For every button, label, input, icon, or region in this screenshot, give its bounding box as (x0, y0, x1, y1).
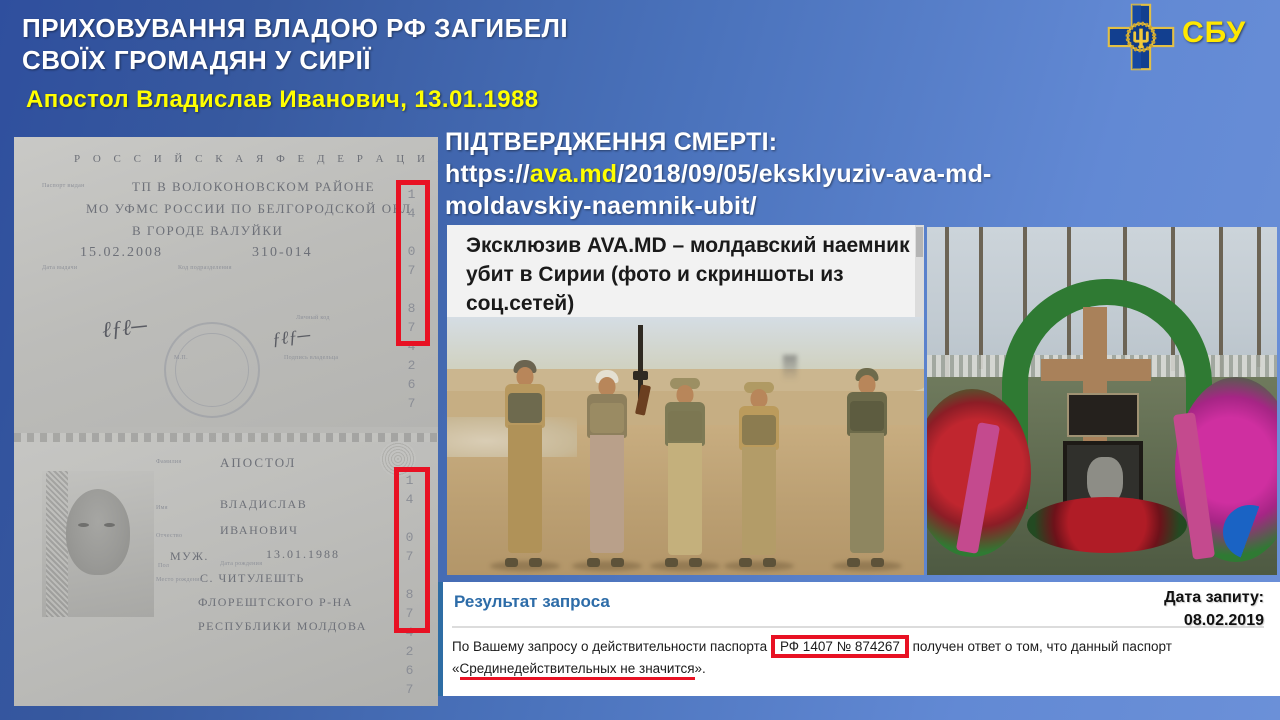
passport-guilloche-pattern (46, 471, 68, 617)
url-prefix: https:// (445, 160, 530, 188)
soldiers-photo (447, 317, 924, 575)
soldier-legs (850, 433, 884, 553)
grave-photo (927, 227, 1277, 575)
passport-birth-place-2: ФЛОРЕШТСКОГО Р-НА (198, 595, 353, 610)
photo-smoke-plume (783, 355, 797, 381)
passport-photo-face (66, 489, 130, 575)
underlined-text-2: недействительных не значится (499, 661, 694, 680)
underlined-text-1: Среди (460, 661, 500, 680)
soldier-2 (567, 377, 647, 567)
soldier-4 (719, 389, 799, 567)
passport-signature-official: ℓƒℓ─ (101, 313, 148, 344)
url-domain-highlight: ava.md (530, 160, 617, 188)
photo-eye-left (78, 523, 89, 527)
passport-issuer-line-1: ТП В ВОЛОКОНОВСКОМ РАЙОНЕ (132, 179, 375, 195)
passport-patronymic: ИВАНОВИЧ (220, 523, 298, 538)
passport-label-issue-date: Дата выдачи (42, 265, 77, 271)
soldier-vest (668, 411, 702, 441)
passport-sex: МУЖ. (170, 549, 209, 564)
soldier-5 (827, 375, 907, 567)
soldier-boot-left (587, 558, 600, 567)
news-headline-box: Эксклюзив AVA.MD – молдавский наемник уб… (447, 225, 924, 317)
photo-eye-right (104, 523, 115, 527)
confirmation-url-line-1: https://ava.md/2018/09/05/eksklyuziv-ava… (445, 158, 1145, 190)
result-body-text: По Вашему запросу о действительности пас… (452, 636, 1266, 680)
result-text-part-3: ». (695, 661, 706, 676)
soldier-shadow (572, 561, 642, 571)
grave-decorative-fan (1223, 505, 1277, 559)
passport-label-dept-code: Код подразделения (178, 265, 232, 271)
query-date-label: Дата запиту: (1004, 586, 1264, 609)
passport-surname: АПОСТОЛ (220, 455, 296, 471)
soldier-boot-right (763, 558, 776, 567)
passport-label-sex: Пол (158, 563, 169, 569)
news-scrollbar[interactable] (915, 225, 924, 317)
passport-issue-date: 15.02.2008 (80, 245, 163, 261)
grave-tree (979, 227, 983, 369)
soldier-legs (590, 435, 624, 553)
news-scrollbar-thumb[interactable] (916, 227, 923, 257)
soldier-legs (508, 425, 542, 553)
soldier-vest (508, 393, 542, 423)
passport-label-patronymic: Отчество (156, 533, 182, 539)
passport-label-birth-date: Дата рождения (220, 561, 262, 567)
soldier-boot-left (847, 558, 860, 567)
passport-label-personal-code: Личный код (296, 315, 330, 321)
sbu-cross-trident-icon (1106, 2, 1176, 72)
soldier-boot-left (739, 558, 752, 567)
soldier-shadow (490, 561, 560, 571)
passport-department-code: 310-014 (252, 245, 313, 261)
soldier-shadow (650, 561, 720, 571)
passport-issuer-line-3: В ГОРОДЕ ВАЛУЙКИ (132, 223, 283, 239)
passport-country-header: Р О С С И Й С К А Я Ф Е Д Е Р А Ц И Я (74, 153, 438, 165)
soldier-shadow (832, 561, 902, 571)
news-headline-text: Эксклюзив AVA.MD – молдавский наемник уб… (466, 231, 911, 318)
soldier-1 (485, 367, 565, 567)
slide-header: ПРИХОВУВАННЯ ВЛАДОЮ РФ ЗАГИБЕЛІ СВОЇХ ГР… (0, 0, 1280, 128)
grave-flower-arrangement (1027, 497, 1187, 553)
passport-page-issuer: Р О С С И Й С К А Я Ф Е Д Е Р А Ц И Я Па… (14, 137, 438, 427)
result-panel-title: Результат запроса (454, 592, 610, 612)
grave-tree (1257, 227, 1261, 367)
result-text-part-1: По Вашему запросу о действительности пас… (452, 639, 771, 654)
passport-label-issued-by: Паспорт выдан (42, 183, 85, 189)
grave-cross-horizontal (1041, 359, 1151, 381)
passport-photo (42, 471, 154, 617)
passport-label-signature: Подпись владельца (284, 355, 338, 361)
death-confirmation-block: ПІДТВЕРДЖЕННЯ СМЕРТІ: https://ava.md/201… (445, 126, 1145, 222)
query-result-panel: Результат запроса Дата запиту: 08.02.201… (438, 582, 1280, 696)
highlight-box-serial-top (396, 180, 430, 346)
passport-official-stamp (164, 322, 260, 418)
passport-label-birth-place: Место рождения (156, 577, 203, 583)
panel-accent-bar (438, 582, 443, 696)
grave-name-plate (1067, 393, 1139, 437)
page-title-line-1: ПРИХОВУВАННЯ ВЛАДОЮ РФ ЗАГИБЕЛІ (22, 12, 1072, 44)
sbu-logo: СБУ (1096, 2, 1276, 72)
sbu-logo-text: СБУ (1182, 16, 1246, 50)
passport-birth-date: 13.01.1988 (266, 547, 340, 562)
soldier-boot-left (505, 558, 518, 567)
soldier-vest (742, 415, 776, 445)
soldier-3 (645, 385, 725, 567)
page-title: ПРИХОВУВАННЯ ВЛАДОЮ РФ ЗАГИБЕЛІ СВОЇХ ГР… (22, 12, 1072, 76)
soldier-boot-right (689, 558, 702, 567)
soldier-shadow (724, 561, 794, 571)
confirmation-label: ПІДТВЕРДЖЕННЯ СМЕРТІ: (445, 126, 1145, 158)
passport-signature-holder: ƒℓƒ─ (271, 325, 311, 350)
passport-label-name: Имя (156, 505, 168, 511)
soldier-legs (742, 447, 776, 555)
passport-scan-image: Р О С С И Й С К А Я Ф Е Д Е Р А Ц И Я Па… (14, 137, 438, 706)
url-path-part-1: /2018/09/05/eksklyuziv-ava-md- (617, 160, 991, 188)
soldier-legs (668, 443, 702, 555)
soldier-vest (590, 403, 624, 433)
confirmation-url-line-2: moldavskiy-naemnik-ubit/ (445, 190, 1145, 222)
soldier-boot-left (665, 558, 678, 567)
passport-label-surname: Фамилия (156, 459, 181, 465)
soldier-boot-right (529, 558, 542, 567)
passport-birth-place-3: РЕСПУБЛИКИ МОЛДОВА (198, 619, 367, 634)
query-date-block: Дата запиту: 08.02.2019 (1004, 586, 1264, 632)
passport-issuer-line-2: МО УФМС РОССИИ ПО БЕЛГОРОДСКОЙ ОБЛ. (86, 201, 416, 217)
soldier-boot-right (611, 558, 624, 567)
soldier-boot-right (871, 558, 884, 567)
passport-perforation-strip (14, 433, 438, 442)
page-title-line-2: СВОЇХ ГРОМАДЯН У СИРІЇ (22, 44, 1072, 76)
highlight-box-serial-bottom (394, 467, 430, 633)
query-date-value: 08.02.2019 (1004, 609, 1264, 632)
passport-page-personal: АПОСТОЛ Фамилия ВЛАДИСЛАВ Имя ИВАНОВИЧ О… (14, 433, 438, 706)
highlighted-passport-number: РФ 1407 № 874267 (771, 635, 909, 658)
passport-birth-place-1: С. ЧИТУЛЕШТЬ (200, 571, 305, 586)
soldier-vest (850, 401, 884, 431)
subject-name-subtitle: Апостол Владислав Иванович, 13.01.1988 (26, 86, 539, 114)
passport-given-name: ВЛАДИСЛАВ (220, 497, 307, 512)
passport-label-mp: М.П. (174, 355, 188, 361)
